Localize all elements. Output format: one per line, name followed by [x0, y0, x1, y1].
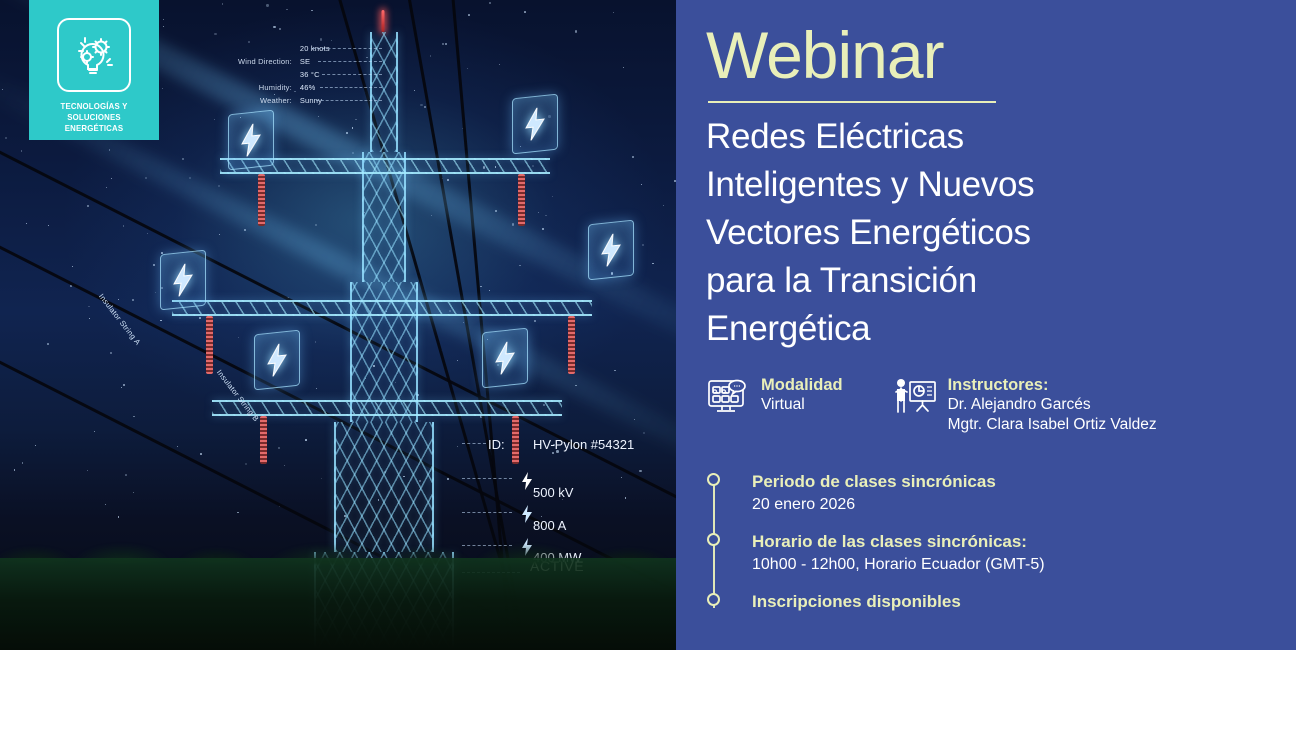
lightning-bolt-badge — [254, 330, 300, 391]
hud-leader-line — [320, 87, 382, 88]
insulator-string — [206, 316, 213, 374]
lightning-icon — [524, 107, 546, 141]
hud-leader-line — [318, 61, 382, 62]
title-line-1: Redes Eléctricas — [706, 113, 1206, 161]
lightning-icon — [172, 263, 194, 297]
insulator-string — [518, 174, 525, 226]
kicker-webinar: Webinar — [706, 20, 944, 90]
registration-link[interactable]: Inscripciones disponibles — [752, 590, 1267, 613]
lightning-bolt-badge — [482, 328, 528, 389]
title-line-3: Vectores Energéticos — [706, 209, 1206, 257]
lightning-bolt-badge — [512, 94, 558, 155]
lightning-icon — [600, 233, 622, 267]
weather-label: Humidity: — [259, 81, 292, 94]
hud-leader-line — [462, 443, 486, 444]
lightbulb-gear-icon — [57, 18, 131, 92]
timeline-dot — [707, 593, 720, 606]
program-badge: TECNOLOGÍAS Y SOLUCIONES ENERGÉTICAS — [29, 0, 159, 140]
hud-leader-line — [312, 48, 382, 49]
pylon-crossarm-low — [212, 400, 562, 416]
timeline-dot — [707, 533, 720, 546]
pylon-crossarm-mid — [172, 300, 592, 316]
timeline-item[interactable]: Inscripciones disponibles — [707, 590, 1267, 613]
kicker-underline — [708, 101, 996, 103]
hud-leader-line — [316, 100, 382, 101]
lightning-icon — [240, 123, 262, 157]
spec-key: ID: — [488, 437, 505, 452]
treeline — [0, 512, 676, 564]
insulator-string — [512, 416, 519, 464]
instructor-name: Mgtr. Clara Isabel Ortiz Valdez — [948, 415, 1157, 435]
instructors-text: Instructores: Dr. Alejandro Garcés Mgtr.… — [948, 376, 1157, 435]
modality-value: Virtual — [761, 395, 843, 415]
title-line-2: Inteligentes y Nuevos — [706, 161, 1206, 209]
timeline-heading: Periodo de clases sincrónicas — [752, 470, 1267, 493]
instructors-block: Instructores: Dr. Alejandro Garcés Mgtr.… — [893, 376, 1157, 435]
timeline-item: Periodo de clases sincrónicas 20 enero 2… — [707, 470, 1267, 516]
lightning-icon — [494, 341, 516, 375]
schedule-timeline: Periodo de clases sincrónicas 20 enero 2… — [707, 470, 1267, 627]
title-line-4: para la Transición — [706, 257, 1206, 305]
weather-label: Wind Direction: — [238, 55, 292, 68]
program-badge-text: TECNOLOGÍAS Y SOLUCIONES ENERGÉTICAS — [39, 101, 149, 134]
timeline-item: Horario de las clases sincrónicas: 10h00… — [707, 530, 1267, 576]
spec-value: 500 kV — [533, 485, 573, 500]
sponsor-logo-bar: lacde Organización Latinoamericana de Co… — [0, 650, 1296, 729]
timeline-body: 10h00 - 12h00, Horario Ecuador (GMT-5) — [752, 553, 1267, 576]
webinar-poster: Insulator String A Insulator String B 20… — [0, 0, 1296, 729]
instructors-label: Instructores: — [948, 376, 1157, 395]
title-line-5: Energética — [706, 305, 1206, 353]
weather-label: Weather: — [260, 94, 292, 107]
meta-row: Modalidad Virtual — [706, 376, 1157, 435]
hud-leader-line — [462, 478, 512, 479]
presenter-board-icon — [893, 376, 937, 420]
instructor-name: Dr. Alejandro Garcés — [948, 395, 1157, 415]
hud-leader-line — [322, 74, 382, 75]
pylon-beacon-light — [382, 10, 385, 32]
page-title: Redes Eléctricas Inteligentes y Nuevos V… — [706, 113, 1206, 353]
timeline-heading: Horario de las clases sincrónicas: — [752, 530, 1267, 553]
bolt-icon — [521, 472, 533, 490]
lightning-bolt-badge — [160, 250, 206, 311]
modality-text: Modalidad Virtual — [761, 376, 843, 415]
timeline-dot — [707, 473, 720, 486]
pylon-mast-top — [370, 32, 398, 152]
lightning-bolt-badge — [588, 220, 634, 281]
insulator-string — [260, 416, 267, 464]
video-conference-icon — [706, 376, 750, 420]
modality-block: Modalidad Virtual — [706, 376, 843, 420]
lightning-bolt-badge — [228, 110, 274, 171]
program-badge-line2: ENERGÉTICAS — [39, 123, 149, 134]
modality-label: Modalidad — [761, 376, 843, 395]
lightning-icon — [266, 343, 288, 377]
timeline-body: 20 enero 2026 — [752, 493, 1267, 516]
ground — [0, 558, 676, 650]
insulator-string — [568, 316, 575, 374]
program-badge-line1: TECNOLOGÍAS Y SOLUCIONES — [39, 101, 149, 123]
spec-value: HV-Pylon #54321 — [533, 437, 634, 452]
insulator-string — [258, 174, 265, 226]
